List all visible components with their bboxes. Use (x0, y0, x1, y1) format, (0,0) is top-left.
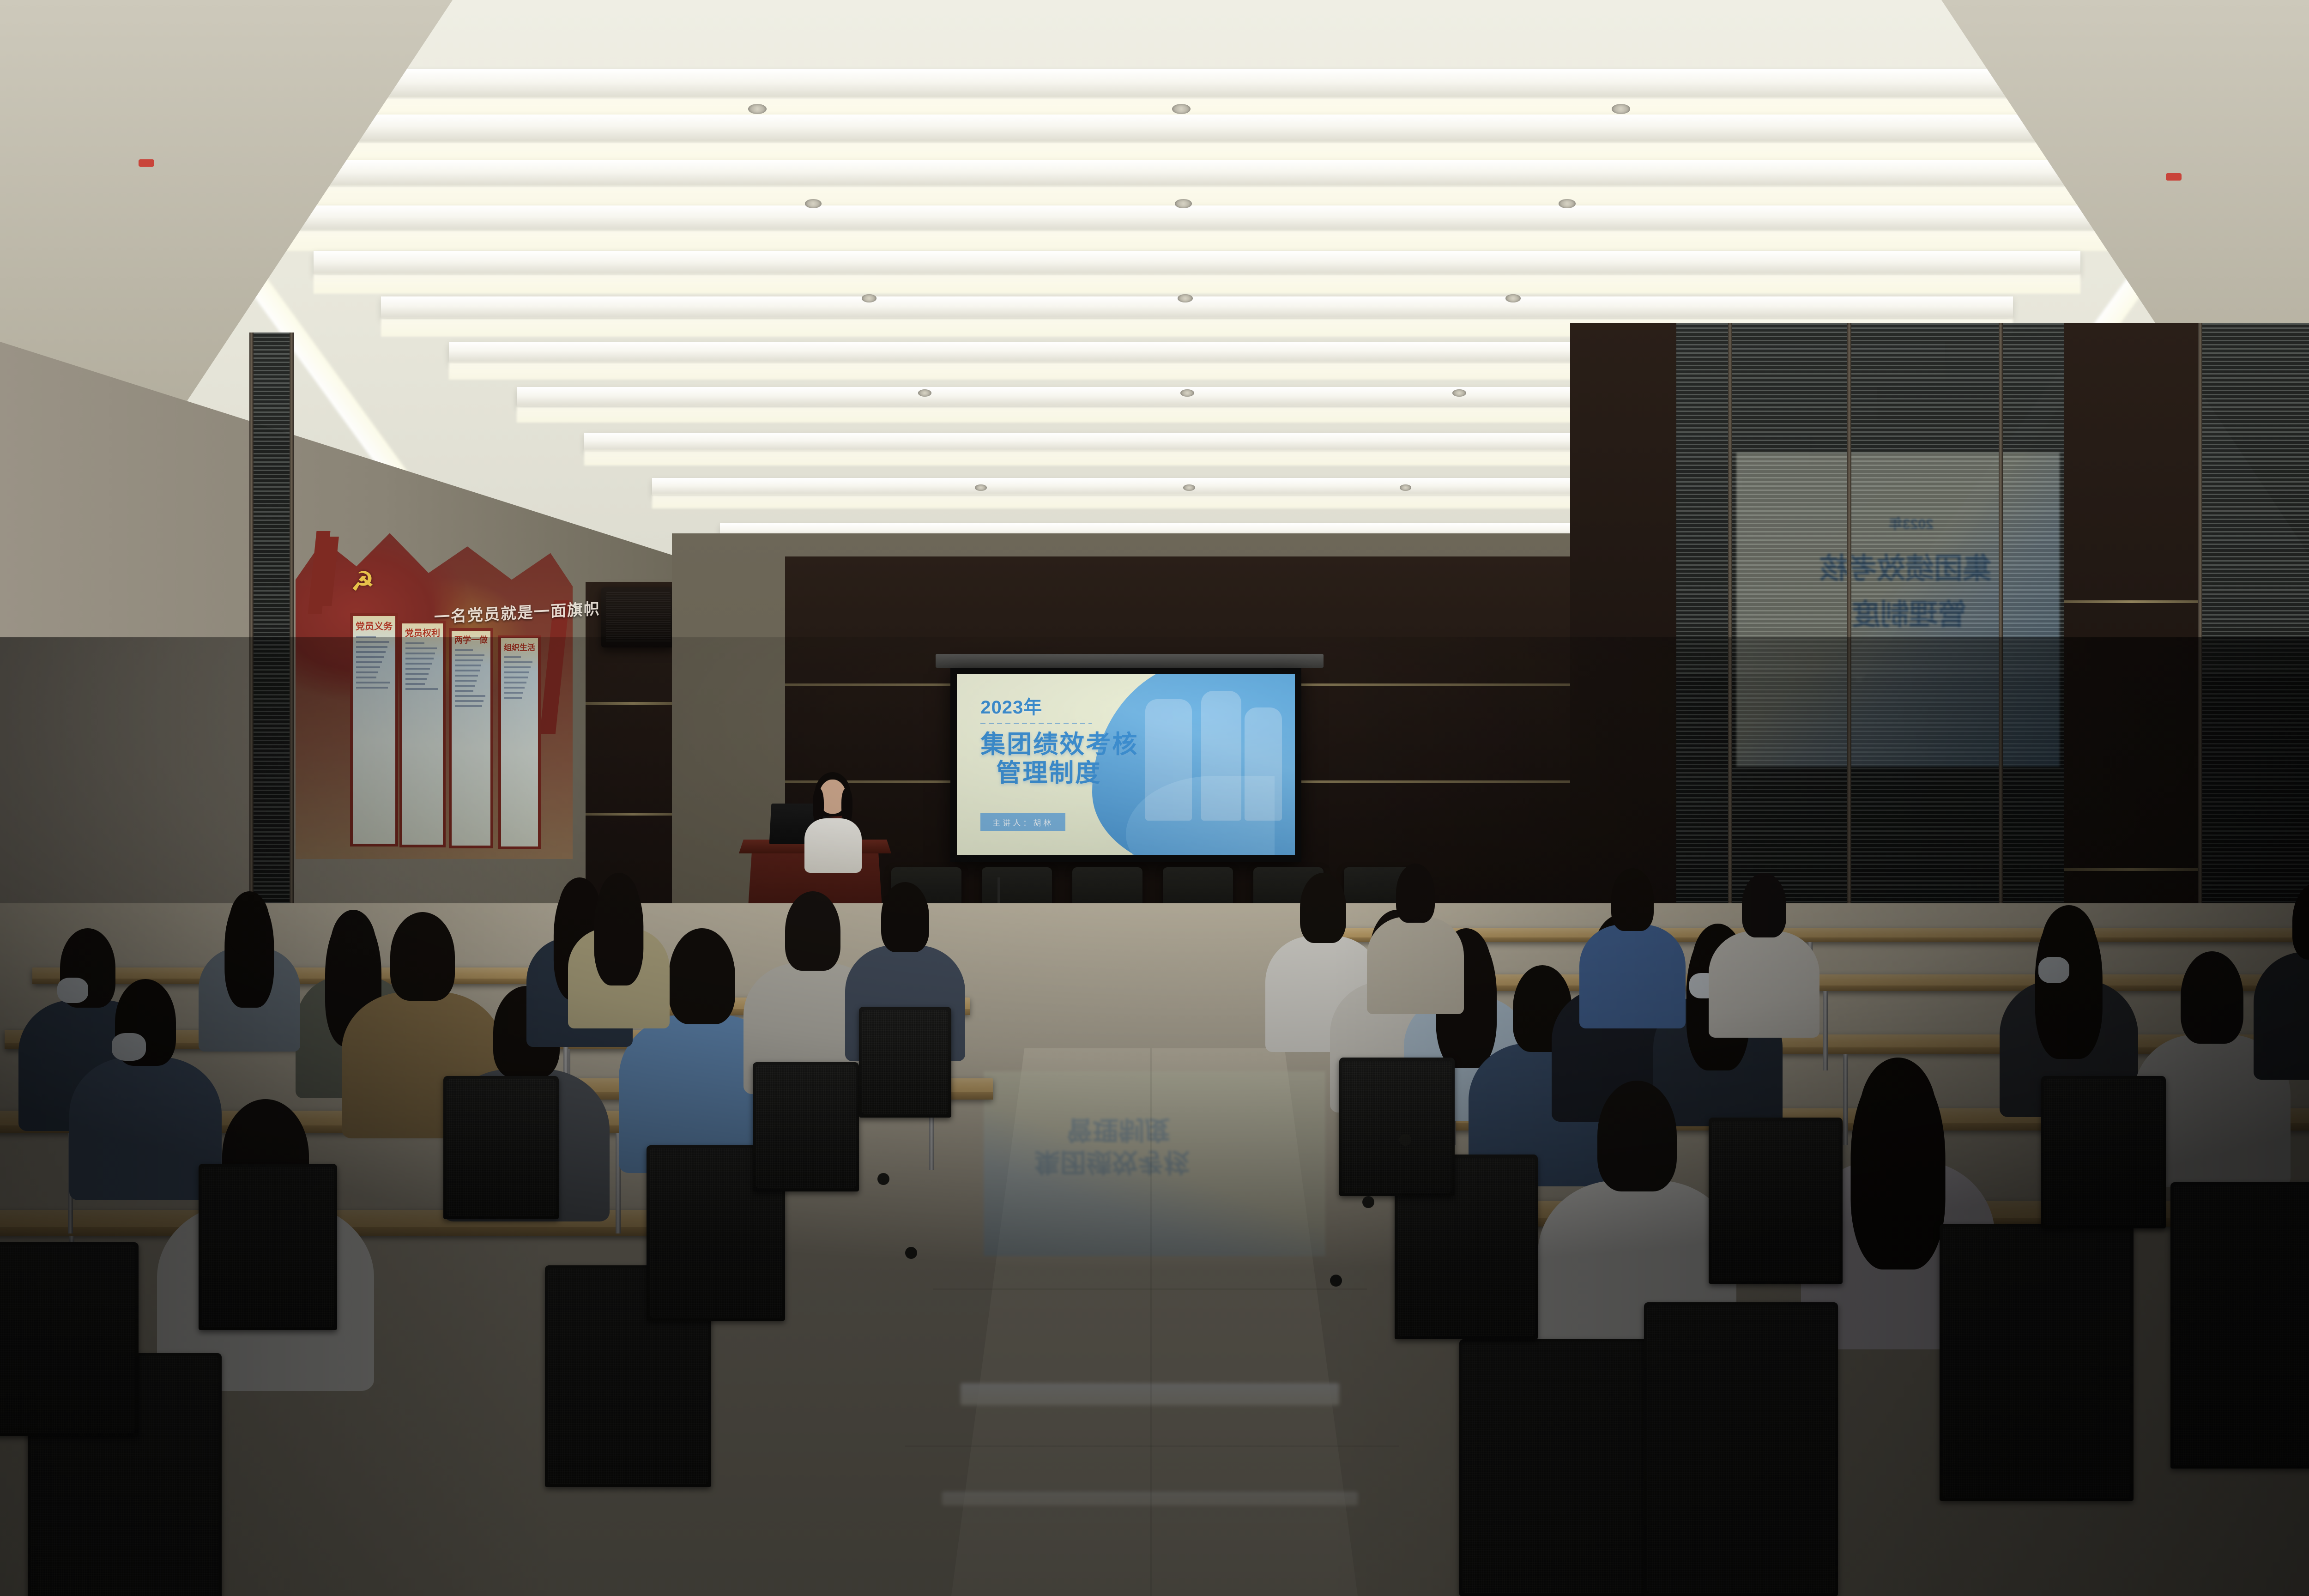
chair-mesh-back (1463, 1342, 1655, 1593)
recessed-downlight (1183, 484, 1195, 491)
recessed-downlight (1175, 199, 1191, 208)
audience-chair[interactable] (1940, 1224, 2134, 1501)
projection-screen: 2023年 集团绩效考核 管理制度 主讲人：胡林 (957, 674, 1295, 855)
person-head-hair (2181, 951, 2243, 1044)
person-head-hair (785, 891, 840, 971)
recessed-downlight (1612, 104, 1630, 114)
person-head-hair (881, 882, 929, 952)
chair-caster (1330, 1275, 1342, 1287)
face-mask (112, 1033, 146, 1061)
person-torso (2254, 952, 2309, 1080)
audience-chair[interactable] (443, 1076, 559, 1219)
audience-chair[interactable] (753, 1062, 859, 1191)
party-emblem-icon: ☭ (351, 566, 374, 597)
face-mask (2038, 957, 2069, 984)
recessed-downlight (1178, 294, 1193, 302)
slide-year: 2023年 (980, 692, 1160, 719)
ceiling-slat (381, 296, 2013, 319)
person-head-hair (598, 873, 639, 934)
audience-chair[interactable] (2041, 1076, 2166, 1228)
chair-mesh-back (1342, 1061, 1451, 1193)
audience-member (1367, 864, 1464, 1011)
audience-chair[interactable] (1459, 1339, 1658, 1596)
recessed-downlight (1559, 199, 1575, 208)
recessed-downlight (1452, 389, 1466, 397)
audience-chair[interactable] (1339, 1058, 1455, 1196)
person-head-hair (229, 891, 270, 954)
slide-speaker-tag: 主讲人：胡林 (980, 813, 1065, 831)
recessed-downlight (975, 484, 987, 491)
recessed-downlight (862, 294, 877, 302)
chair-mesh-back (862, 1010, 948, 1114)
ceiling-slat (246, 206, 2148, 230)
slide-reflection-glass: 2023年 集团绩效考核 管理制度 (1736, 453, 2060, 767)
smoke-detector-left (139, 159, 154, 167)
party-culture-wall: ☭ 一名党员就是一面旗帜 党员义务党员权利两学一做组织生活 (296, 526, 573, 859)
culture-wall-board: 党员权利 (399, 621, 446, 847)
chair-mesh-back (0, 1245, 135, 1433)
culture-wall-board-heading: 党员权利 (402, 623, 443, 639)
gold-reveal-left-2 (586, 813, 680, 816)
floor-tile-line (1150, 1048, 1152, 1596)
person-torso (1709, 931, 1819, 1038)
reflection-title: 集团绩效考核 (1819, 545, 1991, 586)
audience-chair[interactable] (1709, 1118, 1843, 1284)
audience-chair[interactable] (859, 1007, 951, 1118)
chair-mesh-back (447, 1079, 556, 1216)
chair-caster (905, 1247, 917, 1259)
culture-wall-board-text (455, 649, 487, 707)
culture-wall-board-text (504, 656, 535, 699)
ceiling-slat (178, 160, 2216, 186)
recessed-downlight (1172, 104, 1191, 114)
culture-wall-board: 党员义务 (350, 613, 398, 846)
audience-chair[interactable] (199, 1164, 337, 1330)
recessed-downlight (748, 104, 767, 114)
ceiling-cove-glow (246, 230, 2148, 251)
culture-wall-board-heading: 两学一做 (452, 631, 490, 646)
chair-mesh-back (756, 1065, 856, 1188)
chair-mesh-back (1943, 1227, 2130, 1498)
slide-decorative-rule (980, 723, 1092, 724)
audience-member (199, 891, 300, 1048)
presenter-body (804, 818, 862, 873)
audience-member (2254, 882, 2309, 1076)
person-torso (1579, 925, 1686, 1028)
chair-mesh-back (2044, 1079, 2163, 1225)
ceiling-slat (110, 115, 2284, 142)
person-head-hair (1396, 864, 1435, 923)
person-head-hair (1742, 873, 1786, 937)
audience-chair[interactable] (0, 1242, 139, 1436)
chair-mesh-back (1647, 1306, 1835, 1593)
slide-title-line2: 管理制度 (996, 759, 1160, 788)
wall-speaker-left (601, 587, 675, 647)
gold-reveal-far-right-2 (2064, 868, 2198, 871)
chair-mesh-back (1712, 1121, 1839, 1281)
slide-reflection-floor: 集团绩效考核 管理制度 (984, 1071, 1325, 1256)
presenter (788, 772, 876, 869)
culture-wall-board-heading: 党员义务 (353, 616, 395, 632)
person-torso (1367, 917, 1464, 1014)
gold-reveal-left-1 (586, 702, 680, 705)
person-head-hair (1859, 1058, 1937, 1172)
culture-wall-board-heading: 组织生活 (501, 638, 538, 653)
reflection-year: 2023年 (1889, 513, 1934, 533)
audience-chair[interactable] (2170, 1182, 2309, 1469)
audience-member (568, 873, 670, 1025)
ceiling-cove-glow (314, 274, 2081, 294)
slide-title-line1: 集团绩效考核 (980, 731, 1160, 759)
audience-member (1579, 868, 1686, 1025)
person-head-hair (1597, 1081, 1677, 1191)
floor-reflection-title: 集团绩效考核 (1034, 1145, 1190, 1183)
recessed-downlight (805, 199, 822, 208)
gold-reveal-far-right-1 (2064, 600, 2198, 603)
ceiling-cove-glow (178, 186, 2216, 208)
ceiling-slat (314, 251, 2081, 274)
person-head-hair (669, 928, 735, 1024)
reflection-subtitle: 管理制度 (1852, 591, 1966, 633)
culture-wall-board-text (405, 642, 440, 690)
projection-screen-housing (936, 654, 1324, 668)
person-head-hair (1611, 868, 1654, 931)
audience-chair[interactable] (1644, 1302, 1838, 1596)
culture-wall-board: 组织生活 (498, 635, 541, 849)
slide-text-block: 2023年 集团绩效考核 管理制度 主讲人：胡林 (980, 692, 1160, 844)
smoke-detector-right (2166, 173, 2182, 181)
recessed-downlight (1505, 294, 1521, 302)
floor-reflection-subtitle: 管理制度 (1067, 1113, 1170, 1150)
speaker-grille (606, 592, 671, 643)
floor-tile-line (933, 1288, 1367, 1290)
projection-screen-frame: 2023年 集团绩效考核 管理制度 主讲人：胡林 (950, 668, 1301, 862)
recessed-downlight (1180, 389, 1194, 397)
chair-mesh-back (2174, 1185, 2309, 1465)
chair-caster (1362, 1196, 1374, 1208)
recessed-downlight (1400, 484, 1412, 491)
chair-caster (1399, 1134, 1411, 1146)
floor-tile-line (905, 1445, 1399, 1447)
conference-room-photo: ☭ 一名党员就是一面旗帜 党员义务党员权利两学一做组织生活 2023 (0, 0, 2309, 1596)
culture-wall-board-text (356, 636, 392, 689)
chair-caster (877, 1173, 889, 1185)
chair-mesh-back (202, 1167, 334, 1327)
person-head-hair (2292, 882, 2309, 960)
audience-member (1709, 873, 1819, 1034)
culture-wall-board: 两学一做 (449, 628, 493, 848)
